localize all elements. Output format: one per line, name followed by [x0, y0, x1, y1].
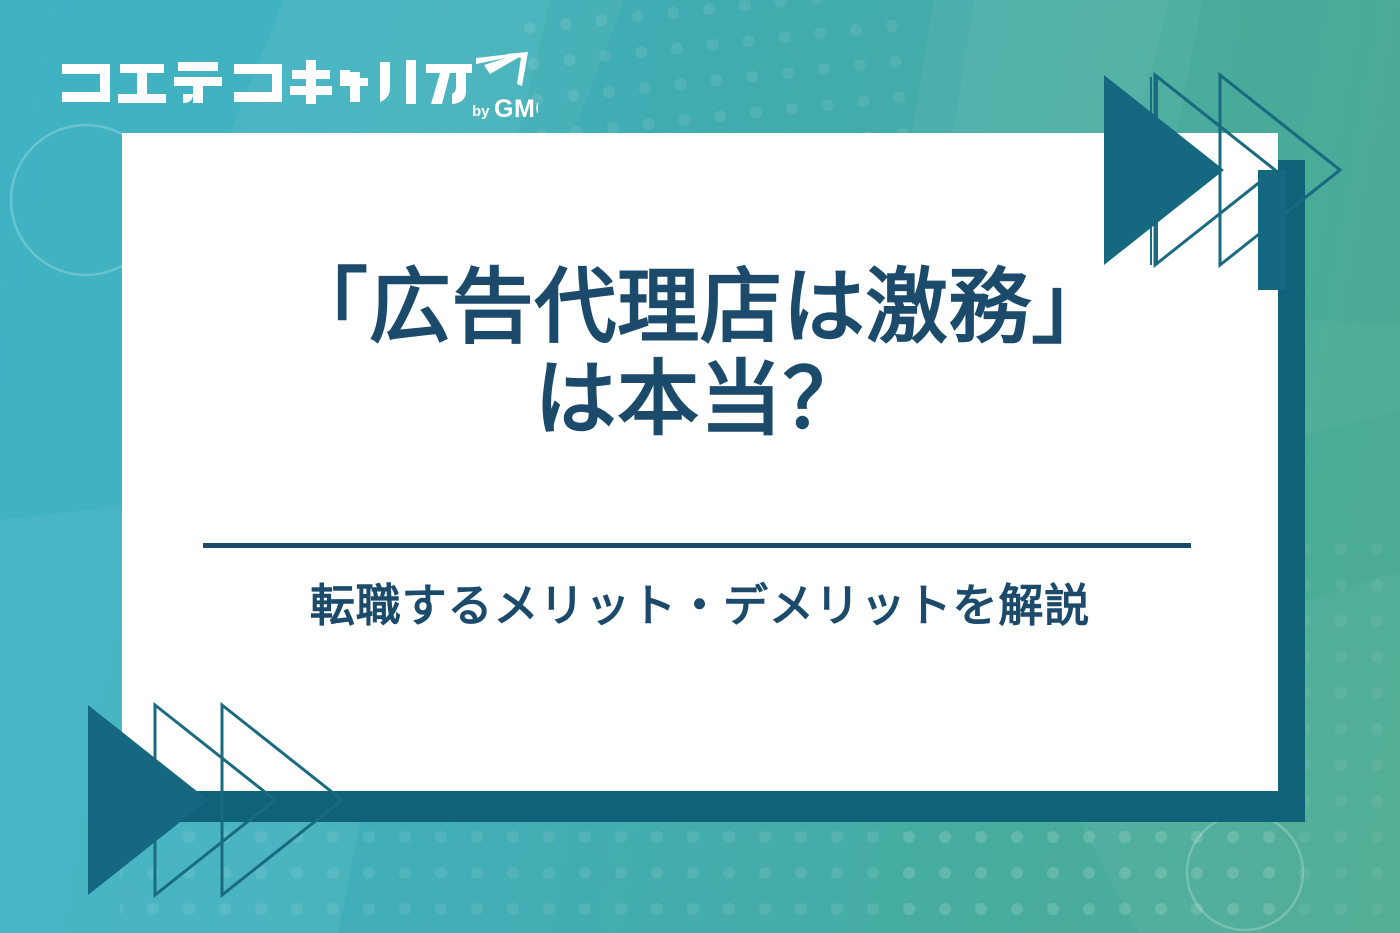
brand-logo[interactable]: by GMO: [58, 46, 538, 124]
hero-title-line-1: 「広告代理店は激務」: [122, 262, 1278, 354]
hero-title-line-2: は本当？: [122, 354, 1278, 446]
brand-logo-icon: by GMO: [58, 46, 538, 124]
logo-gmo-label: GMO: [494, 95, 538, 123]
hero-subtitle: 転職するメリット・デメリットを解説: [122, 578, 1278, 634]
content-card: [122, 133, 1278, 791]
title-divider: [203, 543, 1191, 548]
logo-by-label: by: [472, 103, 490, 120]
hero-banner: by GMO 「広告代理店は激務」 は本当？ 転職するメリット・デメリットを解説: [0, 0, 1400, 933]
hero-title: 「広告代理店は激務」 は本当？: [122, 262, 1278, 446]
